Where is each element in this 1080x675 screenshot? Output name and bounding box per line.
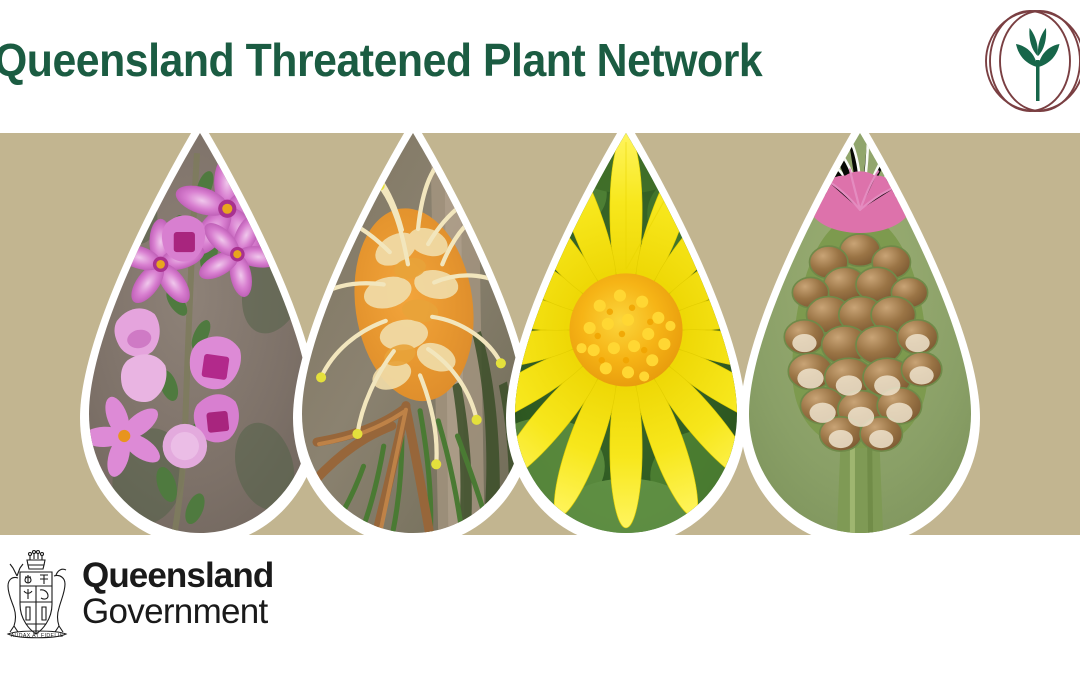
teardrop-photo-clip bbox=[89, 133, 311, 537]
teardrop-image-grevillea-hodgei bbox=[293, 118, 533, 546]
qtpn-banner: Queensland Threatened Plant Network bbox=[0, 0, 1080, 675]
queensland-government-logo: AUDAX AT FIDELIS Queensland Government bbox=[4, 541, 266, 647]
leaf-sprig-icon bbox=[1016, 28, 1060, 101]
teardrop-photo-clip bbox=[515, 133, 737, 537]
teardrop-image-boronia-repanda bbox=[80, 118, 320, 546]
teardrop-white-frame bbox=[506, 118, 746, 546]
queensland-government-wordmark: Queensland Government bbox=[82, 558, 273, 629]
teardrop-white-frame bbox=[293, 118, 533, 546]
teardrop-image-rhaponticum-australe bbox=[740, 118, 980, 546]
svg-text:AUDAX AT FIDELIS: AUDAX AT FIDELIS bbox=[11, 633, 64, 639]
header: Queensland Threatened Plant Network bbox=[0, 0, 1080, 133]
photo-boronia-repanda bbox=[89, 133, 311, 537]
queensland-coat-of-arms-icon: AUDAX AT FIDELIS bbox=[4, 544, 70, 644]
gov-logo-line-2: Government bbox=[82, 594, 273, 630]
photo-rhaponticum-australe bbox=[749, 133, 971, 537]
photo-cymbonotus-maidenii bbox=[515, 133, 737, 537]
qtpn-leaf-roundel-logo bbox=[976, 4, 1080, 122]
teardrop-photo-clip bbox=[749, 133, 971, 537]
teardrop-image-cymbonotus-maidenii bbox=[506, 118, 746, 546]
teardrop-white-frame bbox=[740, 118, 980, 546]
teardrop-white-frame bbox=[80, 118, 320, 546]
gov-logo-line-1: Queensland bbox=[82, 558, 273, 594]
teardrop-photo-clip bbox=[302, 133, 524, 537]
page-title: Queensland Threatened Plant Network bbox=[0, 33, 762, 87]
footer: AUDAX AT FIDELIS Queensland Government A… bbox=[0, 535, 1080, 675]
photo-grevillea-hodgei bbox=[302, 133, 524, 537]
